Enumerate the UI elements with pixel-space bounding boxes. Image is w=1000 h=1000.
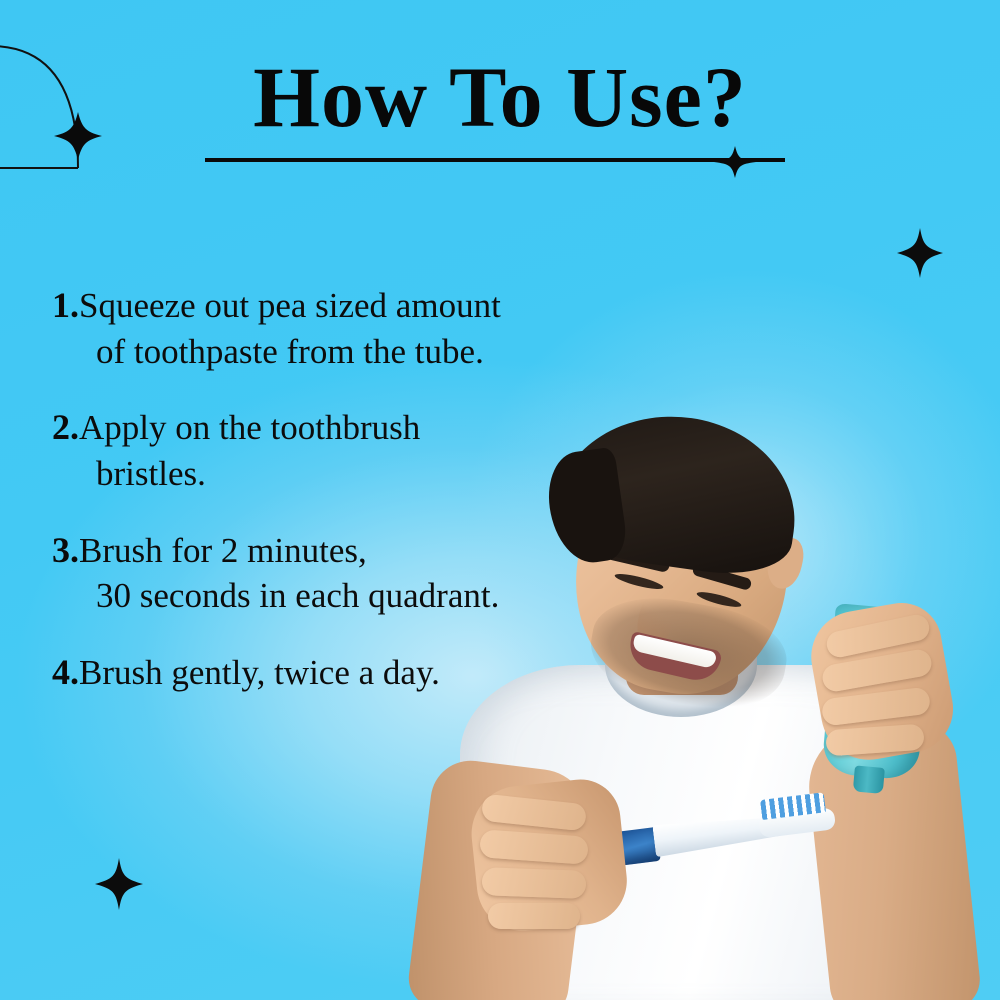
page-title-wrap: How To Use? <box>0 54 1000 140</box>
tube-cap <box>853 765 885 794</box>
step-number: 3. <box>52 530 79 570</box>
step-number: 1. <box>52 285 79 325</box>
step-text-line1: Brush gently, twice a day. <box>79 653 440 692</box>
upper-right-star-icon <box>896 228 944 278</box>
title-underline-wrap <box>205 148 785 172</box>
step-number: 4. <box>52 652 79 692</box>
step-text-line1: Apply on the toothbrush <box>79 408 420 447</box>
how-to-use-poster: How To Use? 1.Squeeze out pea sized amou… <box>0 0 1000 1000</box>
step-text-line2: of toothpaste from the tube. <box>52 329 672 375</box>
list-item: 1.Squeeze out pea sized amount of toothp… <box>52 282 672 374</box>
lower-left-star-icon <box>94 858 144 910</box>
left-finger-3 <box>482 867 587 899</box>
title-underline-star-icon <box>713 145 757 179</box>
left-finger-4 <box>488 903 580 929</box>
page-title: How To Use? <box>0 54 1000 140</box>
title-underline <box>205 158 785 162</box>
step-first-line: 1.Squeeze out pea sized amount <box>52 282 672 329</box>
step-number: 2. <box>52 407 79 447</box>
step-text-line1: Brush for 2 minutes, <box>79 531 367 570</box>
model-photo: perfora dream white toothpaste Formulate… <box>430 395 1000 1000</box>
hair-side <box>543 447 630 568</box>
step-text-line1: Squeeze out pea sized amount <box>79 286 501 325</box>
